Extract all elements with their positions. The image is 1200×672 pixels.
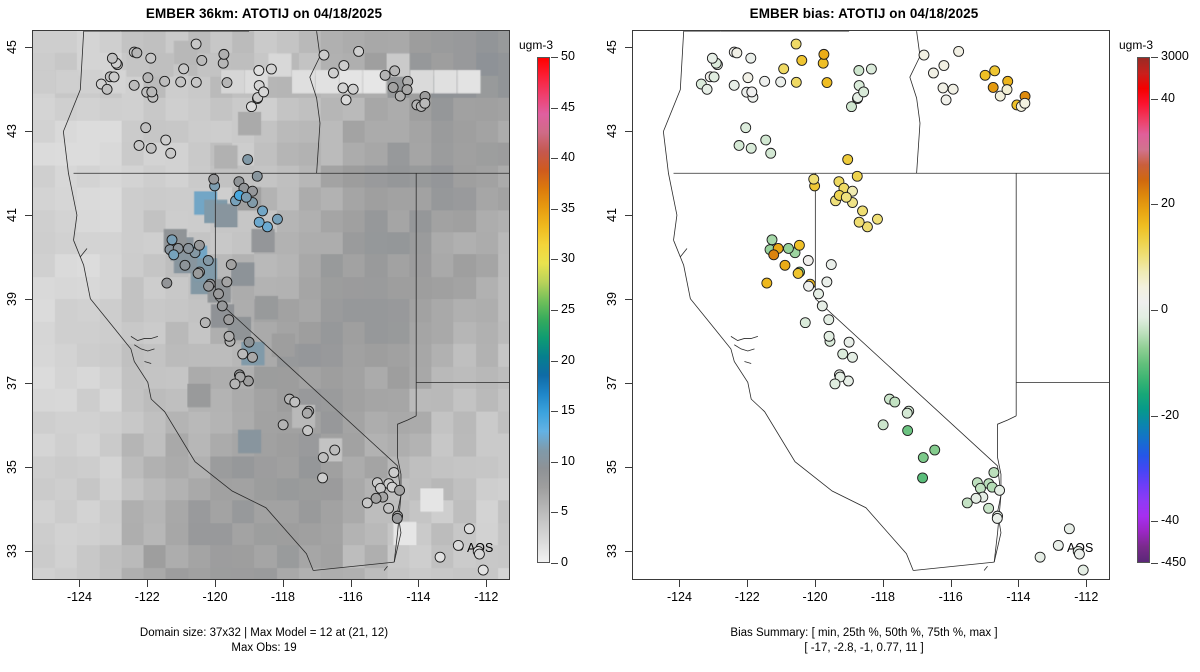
aqs-station-marker[interactable]	[204, 281, 214, 291]
aqs-station-marker[interactable]	[176, 77, 186, 87]
aqs-station-marker[interactable]	[435, 552, 445, 562]
y-axis-label: 35	[600, 460, 624, 474]
x-axis-label: -116	[326, 590, 376, 604]
aqs-bias-marker[interactable]	[954, 46, 964, 56]
aqs-station-marker[interactable]	[243, 155, 253, 165]
y-axis-tick	[25, 383, 32, 384]
aqs-station-marker[interactable]	[371, 493, 381, 503]
aqs-bias-marker[interactable]	[989, 468, 999, 478]
aqs-station-marker[interactable]	[191, 77, 201, 87]
y-axis-tick	[25, 131, 32, 132]
x-axis-tick	[815, 580, 816, 587]
map-boundary-line	[313, 562, 394, 570]
colorbar-tick	[1151, 310, 1158, 311]
colorbar-tick	[551, 108, 558, 109]
aqs-station-marker[interactable]	[219, 49, 229, 59]
aqs-bias-marker[interactable]	[838, 349, 848, 359]
x-axis-tick	[79, 580, 80, 587]
aqs-bias-marker[interactable]	[804, 281, 814, 291]
aqs-bias-marker[interactable]	[776, 77, 786, 87]
aqs-station-marker[interactable]	[147, 87, 157, 97]
aqs-bias-marker[interactable]	[854, 66, 864, 76]
map-boundary-line	[984, 566, 987, 570]
aqs-station-marker[interactable]	[146, 53, 156, 63]
aqs-bias-marker[interactable]	[747, 87, 757, 97]
aqs-station-marker[interactable]	[420, 98, 430, 108]
aqs-station-marker[interactable]	[254, 217, 264, 227]
x-axis-tick	[418, 580, 419, 587]
y-axis-label: 43	[600, 124, 624, 138]
aqs-bias-marker[interactable]	[843, 155, 853, 165]
y-axis-label: 39	[600, 292, 624, 306]
aqs-bias-marker[interactable]	[707, 53, 717, 63]
aqs-station-marker[interactable]	[328, 68, 338, 78]
map-boundary-line	[734, 345, 754, 351]
y-axis-tick	[625, 215, 632, 216]
aqs-station-marker[interactable]	[224, 331, 234, 341]
x-axis-label: -112	[1061, 590, 1111, 604]
x-axis-label: -124	[654, 590, 704, 604]
colorbar-tick-label: 20	[561, 353, 575, 367]
aqs-station-marker[interactable]	[380, 70, 390, 80]
y-axis-label: 45	[0, 40, 24, 54]
aqs-station-marker[interactable]	[390, 66, 400, 76]
aqs-bias-marker[interactable]	[803, 256, 813, 266]
panel-model-bias: EMBER bias: ATOTIJ on 04/18/2025 AQS -12…	[600, 0, 1200, 672]
aqs-bias-marker[interactable]	[1020, 98, 1030, 108]
colorbar-tick	[551, 512, 558, 513]
aqs-bias-marker[interactable]	[903, 426, 913, 436]
aqs-station-marker[interactable]	[197, 55, 207, 65]
map-boundary-line	[674, 173, 998, 466]
aqs-bias-marker[interactable]	[1064, 524, 1074, 534]
aqs-bias-marker[interactable]	[1078, 565, 1088, 575]
colorbar-tick-label: -20	[1161, 408, 1179, 422]
aqs-bias-marker[interactable]	[709, 72, 719, 82]
aqs-bias-marker[interactable]	[732, 48, 742, 58]
aqs-bias-marker[interactable]	[844, 337, 854, 347]
aqs-station-marker[interactable]	[241, 192, 251, 202]
aqs-bias-marker[interactable]	[824, 331, 834, 341]
map-boundary-line	[74, 240, 314, 570]
aqs-station-marker[interactable]	[222, 277, 232, 287]
map-boundary-line	[913, 562, 994, 570]
aqs-station-marker[interactable]	[272, 214, 282, 224]
y-axis-tick	[25, 467, 32, 468]
aqs-bias-marker[interactable]	[760, 76, 770, 86]
aqs-bias-marker[interactable]	[830, 379, 840, 389]
aqs-bias-marker[interactable]	[919, 50, 929, 60]
colorbar-tick-label: -40	[1161, 513, 1179, 527]
aqs-bias-marker[interactable]	[852, 171, 862, 181]
y-axis-label: 35	[0, 460, 24, 474]
x-axis-tick	[1086, 580, 1087, 587]
colorbar-tick	[1151, 521, 1158, 522]
aqs-station-marker[interactable]	[254, 66, 264, 76]
aqs-station-marker[interactable]	[129, 80, 139, 90]
x-axis-label: -124	[54, 590, 104, 604]
y-axis-label: 33	[0, 544, 24, 558]
map-boundary-line	[63, 31, 83, 240]
figure-root: EMBER 36km: ATOTIJ on 04/18/2025 AQS -12…	[0, 0, 1200, 672]
colorbar-tick	[1151, 204, 1158, 205]
y-axis-tick	[25, 215, 32, 216]
aqs-station-marker[interactable]	[348, 84, 358, 94]
aqs-station-marker[interactable]	[341, 95, 351, 105]
aqs-station-marker[interactable]	[107, 53, 117, 63]
aqs-bias-marker[interactable]	[822, 78, 832, 88]
aqs-station-marker[interactable]	[167, 235, 177, 245]
aqs-bias-marker[interactable]	[824, 315, 834, 325]
aqs-bias-marker[interactable]	[858, 206, 868, 216]
colorbar-tick	[551, 462, 558, 463]
aqs-bias-marker[interactable]	[918, 473, 928, 483]
aqs-bias-marker[interactable]	[995, 485, 1005, 495]
x-axis-tick	[1018, 580, 1019, 587]
left-map-vector-layer: AQS	[33, 31, 509, 579]
aqs-bias-marker[interactable]	[990, 66, 1000, 76]
aqs-station-marker[interactable]	[464, 524, 474, 534]
aqs-bias-marker[interactable]	[918, 453, 928, 463]
x-axis-tick	[883, 580, 884, 587]
aqs-station-marker[interactable]	[259, 87, 269, 97]
x-axis-tick	[679, 580, 680, 587]
x-axis-label: -114	[393, 590, 443, 604]
aqs-bias-marker[interactable]	[794, 240, 804, 250]
aqs-station-marker[interactable]	[222, 78, 232, 88]
aqs-bias-marker[interactable]	[928, 68, 938, 78]
aqs-station-marker[interactable]	[217, 301, 227, 311]
aqs-station-marker[interactable]	[230, 379, 240, 389]
aqs-bias-marker[interactable]	[980, 70, 990, 80]
aqs-bias-marker[interactable]	[791, 77, 801, 87]
map-boundary-line	[134, 345, 154, 351]
aqs-station-marker[interactable]	[252, 171, 262, 181]
aqs-station-marker[interactable]	[132, 48, 142, 58]
aqs-bias-marker[interactable]	[872, 214, 882, 224]
aqs-station-marker[interactable]	[244, 337, 254, 347]
aqs-station-marker[interactable]	[266, 64, 276, 74]
colorbar-tick	[551, 563, 558, 564]
aqs-bias-marker[interactable]	[797, 55, 807, 65]
y-axis-label: 37	[600, 376, 624, 390]
right-map-plot[interactable]: AQS	[632, 30, 1110, 580]
colorbar-tick-label: 5	[561, 504, 568, 518]
map-boundary-line	[731, 336, 758, 340]
aqs-station-marker[interactable]	[395, 485, 405, 495]
aqs-station-marker[interactable]	[330, 445, 340, 455]
y-axis-label: 41	[0, 208, 24, 222]
aqs-station-marker[interactable]	[474, 549, 484, 559]
aqs-station-marker[interactable]	[141, 123, 151, 133]
colorbar-tick-label: 25	[561, 302, 575, 316]
y-axis-tick	[625, 383, 632, 384]
x-axis-tick	[215, 580, 216, 587]
aqs-bias-marker[interactable]	[779, 64, 789, 74]
y-axis-label: 41	[600, 208, 624, 222]
map-boundary-line	[131, 336, 158, 340]
x-axis-tick	[351, 580, 352, 587]
aqs-bias-marker[interactable]	[762, 278, 772, 288]
aqs-bias-marker[interactable]	[800, 318, 810, 328]
aqs-station-marker[interactable]	[166, 148, 176, 158]
colorbar-tick-label: 0	[561, 555, 568, 569]
x-axis-tick	[486, 580, 487, 587]
x-axis-label: -120	[790, 590, 840, 604]
colorbar-tick	[551, 209, 558, 210]
aqs-station-marker[interactable]	[102, 84, 112, 94]
aqs-station-marker[interactable]	[478, 565, 488, 575]
aqs-station-marker[interactable]	[203, 256, 213, 266]
colorbar-tick-label: 3000	[1161, 49, 1189, 63]
aqs-station-marker[interactable]	[247, 102, 257, 112]
aqs-station-marker[interactable]	[161, 135, 171, 145]
aqs-bias-marker[interactable]	[743, 73, 753, 83]
aqs-bias-marker[interactable]	[854, 217, 864, 227]
left-panel-title: EMBER 36km: ATOTIJ on 04/18/2025	[0, 6, 528, 21]
aqs-station-marker[interactable]	[162, 278, 172, 288]
x-axis-label: -122	[122, 590, 172, 604]
aqs-bias-marker[interactable]	[948, 84, 958, 94]
x-axis-tick	[147, 580, 148, 587]
aqs-station-marker[interactable]	[224, 315, 234, 325]
aqs-station-marker[interactable]	[339, 61, 349, 71]
aqs-bias-marker[interactable]	[859, 87, 869, 97]
aqs-bias-marker[interactable]	[761, 135, 771, 145]
aqs-bias-marker[interactable]	[766, 148, 776, 158]
left-caption: Domain size: 37x32 | Max Model = 12 at (…	[0, 626, 528, 656]
x-axis-label: -122	[722, 590, 772, 604]
aqs-station-marker[interactable]	[354, 46, 364, 56]
aqs-station-marker[interactable]	[238, 349, 248, 359]
aqs-bias-marker[interactable]	[1074, 549, 1084, 559]
aqs-station-marker[interactable]	[290, 397, 300, 407]
aqs-station-marker[interactable]	[200, 318, 210, 328]
colorbar-tick-label: 35	[561, 201, 575, 215]
aqs-station-marker[interactable]	[302, 408, 312, 418]
aqs-station-marker[interactable]	[214, 289, 224, 299]
right-panel-title: EMBER bias: ATOTIJ on 04/18/2025	[600, 6, 1128, 21]
map-boundary-line	[674, 240, 914, 570]
y-axis-tick	[25, 47, 32, 48]
aqs-station-marker[interactable]	[338, 83, 348, 93]
aqs-station-marker[interactable]	[258, 206, 268, 216]
aqs-bias-marker[interactable]	[988, 82, 998, 92]
map-boundary-line	[663, 31, 683, 240]
map-boundary-line	[144, 361, 151, 363]
y-axis-tick	[625, 551, 632, 552]
y-axis-tick	[625, 131, 632, 132]
aqs-bias-marker[interactable]	[702, 84, 712, 94]
colorbar-tick-label: 15	[561, 403, 575, 417]
aqs-station-marker[interactable]	[143, 73, 153, 83]
aqs-bias-marker[interactable]	[941, 95, 951, 105]
map-boundary-line	[384, 566, 387, 570]
aqs-bias-marker[interactable]	[847, 102, 857, 112]
aqs-bias-marker[interactable]	[971, 493, 981, 503]
left-caption-line1: Domain size: 37x32 | Max Model = 12 at (…	[0, 626, 528, 641]
left-caption-line2: Max Obs: 19	[0, 641, 528, 656]
y-axis-label: 37	[0, 376, 24, 390]
aqs-station-marker[interactable]	[134, 140, 144, 150]
colorbar-tick-label: 40	[561, 150, 575, 164]
aqs-station-marker[interactable]	[247, 352, 257, 362]
aqs-bias-marker[interactable]	[866, 64, 876, 74]
right-caption-line1: Bias Summary: [ min, 25th %, 50th %, 75t…	[600, 626, 1128, 641]
aqs-bias-marker[interactable]	[793, 268, 803, 278]
x-axis-label: -118	[858, 590, 908, 604]
aqs-bias-marker[interactable]	[902, 408, 912, 418]
x-axis-label: -120	[190, 590, 240, 604]
left-map-plot[interactable]: AQS	[32, 30, 510, 580]
aqs-bias-marker[interactable]	[729, 80, 739, 90]
y-axis-tick	[625, 47, 632, 48]
aqs-station-marker[interactable]	[226, 260, 236, 270]
colorbar-tick	[1151, 57, 1158, 58]
y-axis-label: 39	[0, 292, 24, 306]
aqs-station-marker[interactable]	[209, 174, 219, 184]
y-axis-label: 43	[0, 124, 24, 138]
aqs-bias-marker[interactable]	[847, 352, 857, 362]
aqs-bias-marker[interactable]	[984, 503, 994, 513]
aqs-station-marker[interactable]	[193, 268, 203, 278]
colorbar-tick-label: 30	[561, 251, 575, 265]
aqs-station-marker[interactable]	[303, 426, 313, 436]
map-boundary-line	[74, 173, 398, 466]
colorbar-tick	[551, 158, 558, 159]
aqs-bias-marker[interactable]	[746, 53, 756, 63]
right-colorbar[interactable]	[1137, 57, 1150, 563]
y-axis-tick	[625, 467, 632, 468]
colorbar-tick	[551, 310, 558, 311]
aqs-bias-marker[interactable]	[809, 174, 819, 184]
y-axis-tick	[625, 299, 632, 300]
aqs-bias-marker[interactable]	[878, 420, 888, 430]
colorbar-tick-label: 20	[1161, 196, 1175, 210]
aqs-station-marker[interactable]	[318, 453, 328, 463]
aqs-station-marker[interactable]	[319, 50, 329, 60]
aqs-bias-marker[interactable]	[814, 289, 824, 299]
aqs-bias-marker[interactable]	[746, 143, 756, 153]
aqs-bias-marker[interactable]	[822, 277, 832, 287]
aqs-station-marker[interactable]	[146, 143, 156, 153]
colorbar-tick	[551, 361, 558, 362]
aqs-bias-marker[interactable]	[769, 250, 779, 260]
aqs-bias-marker[interactable]	[930, 445, 940, 455]
x-axis-tick	[951, 580, 952, 587]
aqs-station-marker[interactable]	[191, 39, 201, 49]
aqs-bias-marker[interactable]	[1002, 85, 1012, 95]
map-boundary-line	[744, 361, 751, 363]
aqs-bias-marker[interactable]	[819, 49, 829, 59]
colorbar-tick	[1151, 416, 1158, 417]
aqs-station-marker[interactable]	[183, 243, 193, 253]
aqs-station-marker[interactable]	[389, 468, 399, 478]
colorbar-tick-label: -450	[1161, 555, 1186, 569]
y-axis-tick	[25, 551, 32, 552]
aqs-station-marker[interactable]	[384, 503, 394, 513]
x-axis-label: -112	[461, 590, 511, 604]
aqs-bias-marker[interactable]	[841, 192, 851, 202]
aqs-bias-marker[interactable]	[938, 83, 948, 93]
map-boundary-line	[310, 31, 320, 173]
colorbar-tick	[1151, 563, 1158, 564]
right-caption-line2: [ -17, -2.8, -1, 0.77, 11 ]	[600, 641, 1128, 656]
right-caption: Bias Summary: [ min, 25th %, 50th %, 75t…	[600, 626, 1128, 656]
colorbar-tick	[1151, 99, 1158, 100]
aqs-station-marker[interactable]	[388, 82, 398, 92]
aqs-station-marker[interactable]	[392, 513, 402, 523]
aqs-bias-marker[interactable]	[780, 260, 790, 270]
aqs-bias-marker[interactable]	[826, 260, 836, 270]
colorbar-tick-label: 0	[1161, 302, 1168, 316]
map-boundary-line	[80, 249, 87, 257]
aqs-station-marker[interactable]	[179, 64, 189, 74]
aqs-station-marker[interactable]	[109, 72, 119, 82]
x-axis-tick	[747, 580, 748, 587]
right-map-vector-layer: AQS	[633, 31, 1109, 579]
x-axis-label: -114	[993, 590, 1043, 604]
aqs-bias-marker[interactable]	[817, 301, 827, 311]
panel-model-concentration: EMBER 36km: ATOTIJ on 04/18/2025 AQS -12…	[0, 0, 600, 672]
x-axis-label: -116	[926, 590, 976, 604]
aqs-station-marker[interactable]	[318, 473, 328, 483]
aqs-bias-marker[interactable]	[741, 123, 751, 133]
x-axis-label: -118	[258, 590, 308, 604]
colorbar-tick	[551, 259, 558, 260]
left-colorbar[interactable]	[537, 57, 550, 563]
aqs-station-marker[interactable]	[169, 250, 179, 260]
aqs-station-marker[interactable]	[453, 540, 463, 550]
y-axis-tick	[25, 299, 32, 300]
colorbar-tick-label: 40	[1161, 91, 1175, 105]
aqs-bias-marker[interactable]	[791, 39, 801, 49]
y-axis-label: 45	[600, 40, 624, 54]
aqs-bias-marker[interactable]	[767, 235, 777, 245]
colorbar-tick-label: 45	[561, 100, 575, 114]
colorbar-tick-label: 50	[561, 49, 575, 63]
aqs-bias-marker[interactable]	[992, 513, 1002, 523]
y-axis-label: 33	[600, 544, 624, 558]
map-boundary-line	[910, 31, 920, 173]
aqs-bias-marker[interactable]	[939, 61, 949, 71]
colorbar-tick	[551, 411, 558, 412]
aqs-station-marker[interactable]	[402, 85, 412, 95]
aqs-bias-marker[interactable]	[734, 140, 744, 150]
colorbar-tick-label: 10	[561, 454, 575, 468]
x-axis-tick	[283, 580, 284, 587]
aqs-bias-marker[interactable]	[890, 397, 900, 407]
aqs-station-marker[interactable]	[194, 240, 204, 250]
aqs-bias-marker[interactable]	[1053, 540, 1063, 550]
aqs-bias-marker[interactable]	[1035, 552, 1045, 562]
aqs-bias-marker[interactable]	[783, 243, 793, 253]
aqs-station-marker[interactable]	[278, 420, 288, 430]
colorbar-tick	[551, 57, 558, 58]
map-boundary-line	[680, 249, 687, 257]
aqs-station-marker[interactable]	[180, 260, 190, 270]
aqs-station-marker[interactable]	[160, 76, 170, 86]
